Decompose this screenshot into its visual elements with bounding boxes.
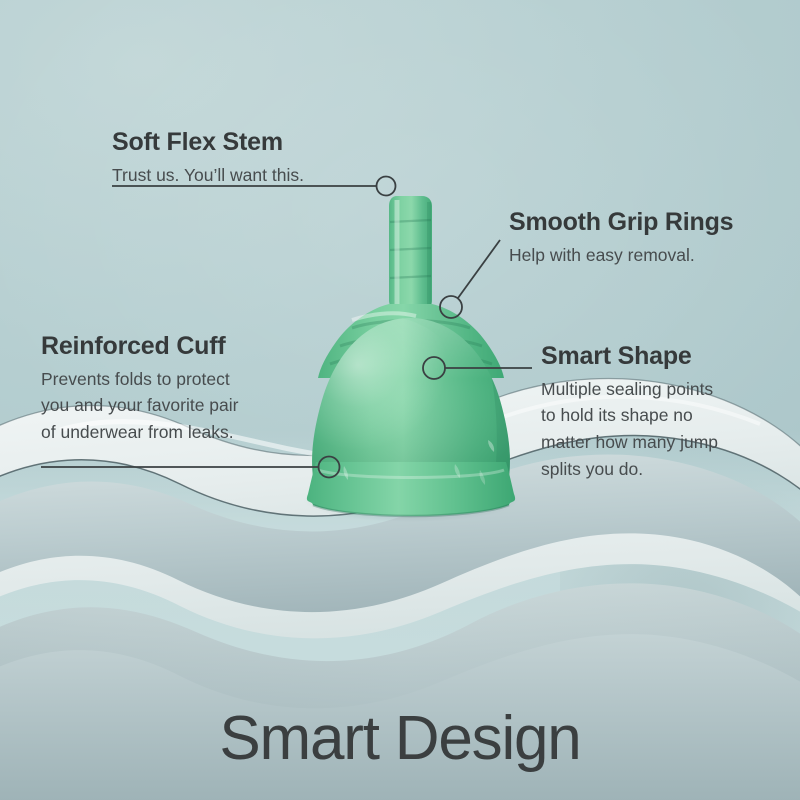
leader-line-smooth-grip-rings — [458, 240, 500, 298]
callout-title: Reinforced Cuff — [41, 332, 238, 361]
page-title: Smart Design — [0, 708, 800, 770]
callout-soft-flex-stem: Soft Flex Stem Trust us. You’ll want thi… — [112, 128, 304, 188]
callout-title: Soft Flex Stem — [112, 128, 304, 157]
callout-body: Help with easy removal. — [509, 242, 733, 269]
callout-body-line: to hold its shape no — [541, 402, 718, 429]
callout-body-line: Prevents folds to protect — [41, 366, 238, 393]
callout-title: Smooth Grip Rings — [509, 208, 733, 237]
leader-dot-reinforced-cuff — [319, 457, 340, 478]
callout-body-line: Multiple sealing points — [541, 376, 718, 403]
callout-body: Multiple sealing points to hold its shap… — [541, 376, 718, 482]
leader-dot-smooth-grip-rings — [440, 296, 462, 318]
callout-body: Trust us. You’ll want this. — [112, 162, 304, 189]
callout-body-line: matter how many jump — [541, 429, 718, 456]
callout-smart-shape: Smart Shape Multiple sealing points to h… — [541, 342, 718, 482]
callout-body-line: splits you do. — [541, 456, 718, 483]
callout-body: Prevents folds to protect you and your f… — [41, 366, 238, 446]
callout-reinforced-cuff: Reinforced Cuff Prevents folds to protec… — [41, 332, 238, 446]
leader-dot-soft-flex-stem — [377, 177, 396, 196]
callout-title: Smart Shape — [541, 342, 718, 371]
product-infographic: Soft Flex Stem Trust us. You’ll want thi… — [0, 0, 800, 800]
callout-body-line: you and your favorite pair — [41, 392, 238, 419]
callout-smooth-grip-rings: Smooth Grip Rings Help with easy removal… — [509, 208, 733, 268]
callout-body-line: Help with easy removal. — [509, 242, 733, 269]
callout-body-line: of underwear from leaks. — [41, 419, 238, 446]
leader-dot-smart-shape — [423, 357, 445, 379]
callout-body-line: Trust us. You’ll want this. — [112, 162, 304, 189]
